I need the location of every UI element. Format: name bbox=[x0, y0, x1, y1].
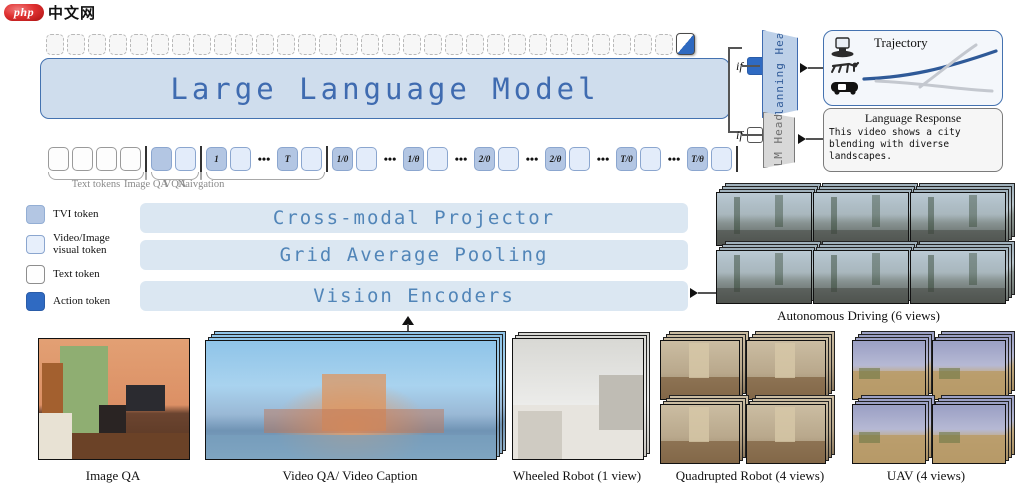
token-group-separator bbox=[736, 146, 738, 172]
output-token-placeholder bbox=[487, 34, 505, 55]
token-group-brace bbox=[206, 172, 325, 180]
legend-item: TVI token bbox=[26, 205, 138, 224]
token-group-label: Image QA bbox=[124, 179, 168, 190]
dataset-caption: Video QA/ Video Caption bbox=[205, 468, 495, 484]
legend-label: Video/Image visual token bbox=[53, 232, 138, 257]
uav-photo bbox=[932, 340, 1004, 398]
photo bbox=[746, 404, 826, 464]
output-token-placeholder bbox=[319, 34, 337, 55]
lm-link bbox=[742, 134, 762, 136]
uav-photo bbox=[932, 404, 1004, 462]
language-response-body: This video shows a cityblending with div… bbox=[829, 127, 1002, 163]
language-response-title: Language Response bbox=[824, 111, 1002, 126]
language-response-line: blending with diverse bbox=[829, 139, 1002, 151]
tvi-token: 1/0 bbox=[332, 147, 353, 171]
output-token-placeholder bbox=[256, 34, 274, 55]
dataset-caption: Quadrupted Robot (4 views) bbox=[652, 468, 848, 484]
photo bbox=[852, 404, 926, 464]
trajectory-output-panel: Trajectory bbox=[823, 30, 1003, 106]
driving-view bbox=[716, 250, 810, 302]
arrow-stem bbox=[698, 292, 716, 294]
output-token-placeholder bbox=[424, 34, 442, 55]
photo bbox=[716, 250, 812, 304]
photo bbox=[813, 250, 909, 304]
photo bbox=[932, 404, 1006, 464]
token-legend: TVI tokenVideo/Image visual tokenText to… bbox=[26, 205, 138, 319]
planning-head-line2: Head bbox=[773, 24, 786, 55]
visual-token bbox=[356, 147, 377, 171]
quadruped-icon bbox=[832, 63, 858, 72]
token-group-image-qa bbox=[151, 147, 199, 171]
output-token-placeholder bbox=[67, 34, 85, 55]
token-group-text-tokens bbox=[48, 147, 144, 171]
token-group-separator bbox=[326, 146, 328, 172]
text-token bbox=[48, 147, 69, 171]
visual-token bbox=[640, 147, 661, 171]
token-group-separator bbox=[145, 146, 147, 172]
token-group-label: Naivgation bbox=[178, 179, 225, 190]
photo bbox=[38, 338, 190, 460]
visual-token bbox=[427, 147, 448, 171]
photo bbox=[932, 340, 1006, 400]
token-ellipsis: ••• bbox=[664, 152, 684, 167]
watermark-text: 中文网 bbox=[48, 2, 96, 23]
output-token-placeholder bbox=[592, 34, 610, 55]
autonomous-driving-caption: Autonomous Driving (6 views) bbox=[700, 308, 1017, 324]
quadruped-robot-photo bbox=[746, 340, 824, 398]
visual-token bbox=[301, 147, 322, 171]
visual-token bbox=[711, 147, 732, 171]
language-response-line: landscapes. bbox=[829, 151, 1002, 163]
text-token bbox=[120, 147, 141, 171]
lm-head-label: LM Head bbox=[773, 113, 785, 166]
photo bbox=[205, 340, 497, 460]
image-qa-photo bbox=[38, 338, 188, 458]
visual-token bbox=[498, 147, 519, 171]
head-branch-top bbox=[728, 47, 742, 49]
wheeled-robot-photo bbox=[512, 338, 642, 458]
output-token-placeholder bbox=[550, 34, 568, 55]
token-ellipsis: ••• bbox=[254, 152, 274, 167]
output-token-placeholder bbox=[508, 34, 526, 55]
token-group-separator bbox=[200, 146, 202, 172]
tvi-token: 1/θ bbox=[403, 147, 424, 171]
output-token-placeholder bbox=[109, 34, 127, 55]
output-token-placeholder bbox=[361, 34, 379, 55]
watermark-logo: php 中文网 bbox=[4, 2, 96, 23]
tvi-token: T/θ bbox=[687, 147, 708, 171]
language-response-panel: Language Response This video shows a cit… bbox=[823, 108, 1003, 172]
photo bbox=[660, 404, 740, 464]
dataset-caption: Image QA bbox=[38, 468, 188, 484]
legend-swatch-icon bbox=[26, 235, 45, 254]
photo bbox=[660, 340, 740, 400]
pipeline-label: Cross-modal Projector bbox=[273, 207, 555, 229]
planning-head-label: Planning Head bbox=[774, 24, 786, 123]
legend-item: Video/Image visual token bbox=[26, 232, 138, 257]
output-token-placeholder bbox=[655, 34, 673, 55]
legend-swatch-icon bbox=[26, 292, 45, 311]
output-token-placeholder bbox=[277, 34, 295, 55]
visual-token bbox=[569, 147, 590, 171]
quadruped-robot-photo bbox=[746, 404, 824, 462]
photo bbox=[852, 340, 926, 400]
driving-view bbox=[813, 250, 907, 302]
output-token-placeholder bbox=[466, 34, 484, 55]
legend-label: TVI token bbox=[53, 208, 99, 220]
output-token-placeholder bbox=[445, 34, 463, 55]
token-ellipsis: ••• bbox=[522, 152, 542, 167]
output-token-placeholder bbox=[571, 34, 589, 55]
text-token bbox=[96, 147, 117, 171]
legend-label: Action token bbox=[53, 295, 110, 307]
tvi-token: 2/0 bbox=[474, 147, 495, 171]
driving-view bbox=[910, 250, 1004, 302]
quadruped-robot-photo bbox=[660, 340, 738, 398]
llm-label: Large Language Model bbox=[170, 72, 599, 106]
arrow-to-trajectory bbox=[800, 63, 808, 73]
token-ellipsis: ••• bbox=[380, 152, 400, 167]
quadruped-robot-photo bbox=[660, 404, 738, 462]
arrow-stem bbox=[806, 138, 823, 140]
lm-head: LM Head bbox=[763, 112, 795, 168]
tvi-token: 2/θ bbox=[545, 147, 566, 171]
token-group-label: Text tokens bbox=[72, 179, 121, 190]
php-badge: php bbox=[4, 4, 44, 21]
dataset-caption: UAV (4 views) bbox=[846, 468, 1006, 484]
pipeline-label: Vision Encoders bbox=[313, 285, 515, 307]
tvi-token bbox=[151, 147, 172, 171]
output-token-placeholder bbox=[382, 34, 400, 55]
uav-photo bbox=[852, 404, 924, 462]
pipeline-grid-average-pooling: Grid Average Pooling bbox=[140, 240, 688, 270]
output-token-placeholder bbox=[172, 34, 190, 55]
driving-view bbox=[910, 192, 1004, 244]
planning-link bbox=[742, 65, 760, 67]
output-token-placeholder bbox=[529, 34, 547, 55]
visual-token bbox=[230, 147, 251, 171]
driving-view bbox=[716, 192, 810, 244]
photo bbox=[716, 192, 812, 246]
legend-label: Text token bbox=[53, 268, 100, 280]
token-ellipsis: ••• bbox=[593, 152, 613, 167]
output-token-placeholder bbox=[46, 34, 64, 55]
legend-swatch-icon bbox=[26, 265, 45, 284]
pipeline-label: Grid Average Pooling bbox=[280, 244, 549, 266]
output-token-placeholder bbox=[340, 34, 358, 55]
legend-item: Text token bbox=[26, 265, 138, 284]
arrow-to-language-response bbox=[798, 134, 806, 144]
planning-head: Planning Head bbox=[762, 30, 798, 118]
lm-head-line2: Head bbox=[772, 113, 785, 144]
photo bbox=[910, 250, 1006, 304]
output-token-strip bbox=[46, 33, 695, 55]
action-token bbox=[676, 33, 695, 55]
output-token-placeholder bbox=[298, 34, 316, 55]
visual-token bbox=[175, 147, 196, 171]
output-token-placeholder bbox=[403, 34, 421, 55]
arrow-left-into-vision-encoders bbox=[690, 288, 698, 298]
dataset-caption: Wheeled Robot (1 view) bbox=[484, 468, 670, 484]
output-token-placeholder bbox=[613, 34, 631, 55]
token-ellipsis: ••• bbox=[451, 152, 471, 167]
output-token-placeholder bbox=[130, 34, 148, 55]
lm-head-line1: LM bbox=[772, 151, 785, 166]
head-branch-trunk bbox=[728, 47, 730, 133]
output-token-placeholder bbox=[88, 34, 106, 55]
output-token-placeholder bbox=[193, 34, 211, 55]
input-token-row: 1•••T1/0•••1/θ•••2/0•••2/θ•••T/0•••T/θ bbox=[48, 146, 742, 172]
legend-item: Action token bbox=[26, 292, 138, 311]
video-qa-photo bbox=[205, 340, 495, 458]
tvi-token: T bbox=[277, 147, 298, 171]
output-token-placeholder bbox=[151, 34, 169, 55]
photo bbox=[910, 192, 1006, 246]
legend-swatch-icon bbox=[26, 205, 45, 224]
token-group-naivgation: 1/0•••1/θ•••2/0•••2/θ•••T/0•••T/θ bbox=[332, 147, 735, 171]
large-language-model-box: Large Language Model bbox=[40, 58, 730, 119]
tvi-token: T/0 bbox=[616, 147, 637, 171]
pipeline-cross-modal-projector: Cross-modal Projector bbox=[140, 203, 688, 233]
output-token-placeholder bbox=[214, 34, 232, 55]
token-group-vqa: 1•••T bbox=[206, 147, 325, 171]
output-token-placeholder bbox=[235, 34, 253, 55]
uav-photo bbox=[852, 340, 924, 398]
driving-view bbox=[813, 192, 907, 244]
tvi-token: 1 bbox=[206, 147, 227, 171]
photo bbox=[746, 340, 826, 400]
pipeline-vision-encoders: Vision Encoders bbox=[140, 281, 688, 311]
language-response-line: This video shows a city bbox=[829, 127, 1002, 139]
text-token bbox=[72, 147, 93, 171]
trajectory-agent-icons bbox=[829, 37, 863, 99]
photo bbox=[512, 338, 644, 460]
photo bbox=[813, 192, 909, 246]
output-token-placeholder bbox=[634, 34, 652, 55]
uav-icon bbox=[832, 38, 854, 57]
car-icon bbox=[831, 82, 858, 95]
arrow-stem bbox=[808, 67, 823, 69]
